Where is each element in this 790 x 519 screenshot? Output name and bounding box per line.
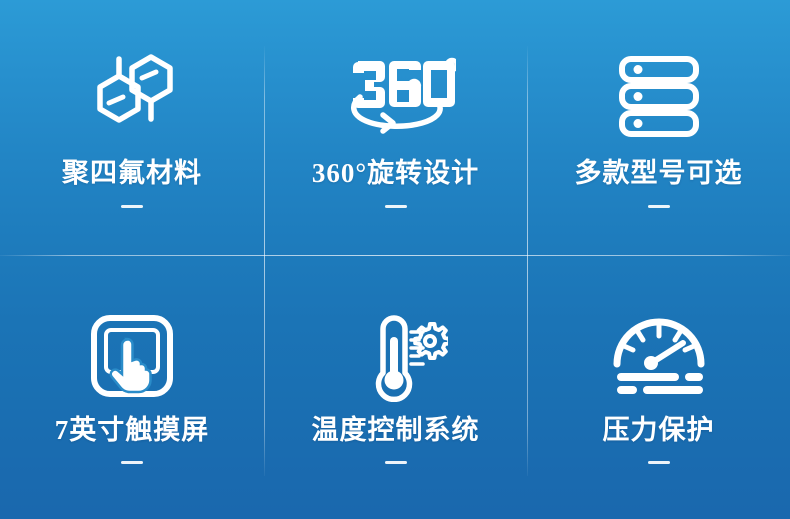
feature-cell-temperature-control[interactable]: 温度控制系统	[264, 255, 527, 519]
hexagon-molecule-icon	[76, 47, 188, 143]
360-rotation-icon	[336, 47, 456, 143]
feature-cell-pressure-protection[interactable]: 压力保护	[527, 255, 790, 519]
feature-cell-rotating-design[interactable]: 360°旋转设计	[264, 0, 527, 255]
feature-label: 360°旋转设计	[312, 159, 479, 189]
feature-label: 7英寸触摸屏	[55, 416, 210, 446]
server-stack-icon	[611, 47, 707, 143]
label-underline-dash	[121, 461, 143, 464]
feature-highlights-panel: 聚四氟材料	[0, 0, 790, 519]
touchscreen-hand-icon	[86, 310, 178, 402]
pressure-gauge-icon	[607, 310, 711, 402]
label-underline-dash	[648, 205, 670, 208]
feature-label: 聚四氟材料	[62, 159, 202, 189]
feature-label: 压力保护	[603, 416, 715, 446]
feature-grid: 聚四氟材料	[0, 0, 790, 519]
feature-cell-touchscreen[interactable]: 7英寸触摸屏	[0, 255, 264, 519]
label-underline-dash	[648, 461, 670, 464]
feature-cell-ptfe-material[interactable]: 聚四氟材料	[0, 0, 264, 255]
feature-label: 多款型号可选	[575, 159, 743, 189]
thermometer-gear-icon	[344, 310, 448, 402]
label-underline-dash	[385, 461, 407, 464]
label-underline-dash	[385, 205, 407, 208]
feature-label: 温度控制系统	[312, 416, 480, 446]
label-underline-dash	[121, 205, 143, 208]
feature-cell-multiple-models[interactable]: 多款型号可选	[527, 0, 790, 255]
